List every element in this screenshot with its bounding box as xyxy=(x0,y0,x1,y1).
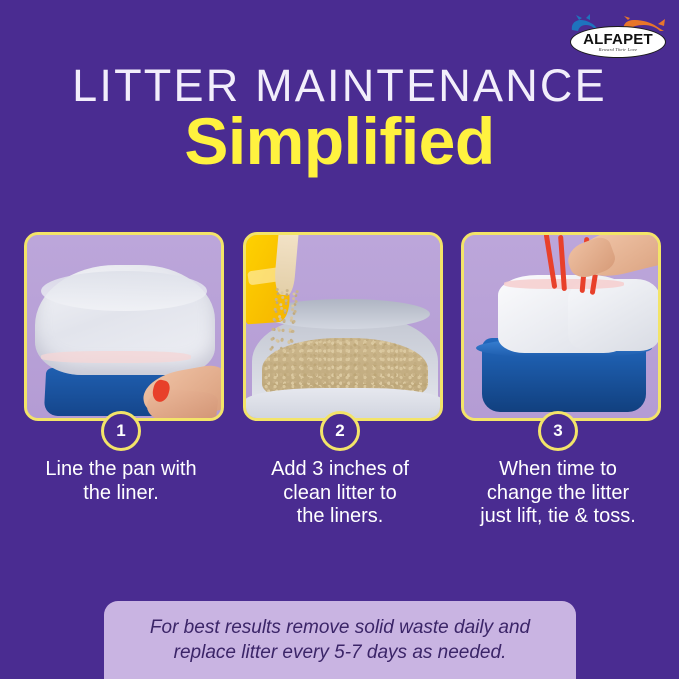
step-badge-2: 2 xyxy=(320,411,360,451)
step-image-panel-1 xyxy=(24,232,224,421)
infographic-canvas: ALFAPET Reward Their Love LITTER MAINTEN… xyxy=(0,0,679,679)
logo-oval: ALFAPET Reward Their Love xyxy=(570,26,666,58)
logo-wordmark: ALFAPET xyxy=(583,32,653,47)
step-image-panel-3 xyxy=(461,232,661,421)
step-badge-3: 3 xyxy=(538,411,578,451)
step-caption-2: Add 3 inches of clean litter to the line… xyxy=(225,458,455,529)
photo-lift-tie-toss xyxy=(464,235,658,418)
step-caption-1-line-1: Line the pan with xyxy=(6,458,236,482)
photo-add-litter xyxy=(246,235,440,418)
liner-fold-shape xyxy=(41,271,207,311)
step-caption-3-line-3: just lift, tie & toss. xyxy=(443,505,673,529)
logo-tagline: Reward Their Love xyxy=(599,48,638,53)
step-caption-3: When time to change the litter just lift… xyxy=(443,458,673,529)
step-caption-3-line-2: change the litter xyxy=(443,482,673,506)
footer-note: For best results remove solid waste dail… xyxy=(104,601,576,679)
step-caption-3-line-1: When time to xyxy=(443,458,673,482)
step-caption-1-line-2: the liner. xyxy=(6,482,236,506)
headline-accent: Simplified xyxy=(0,108,679,174)
headline-primary: LITTER MAINTENANCE xyxy=(0,63,679,108)
footer-note-line-1: For best results remove solid waste dail… xyxy=(122,615,558,640)
footer-note-line-2: replace litter every 5-7 days as needed. xyxy=(122,640,558,665)
photo-line-the-pan xyxy=(27,235,221,418)
step-caption-1: Line the pan with the liner. xyxy=(6,458,236,505)
step-image-panel-2 xyxy=(243,232,443,421)
step-caption-2-line-2: clean litter to xyxy=(225,482,455,506)
step-caption-2-line-1: Add 3 inches of xyxy=(225,458,455,482)
step-badge-1: 1 xyxy=(101,411,141,451)
step-caption-2-line-3: the liners. xyxy=(225,505,455,529)
brand-logo: ALFAPET Reward Their Love xyxy=(566,12,670,58)
